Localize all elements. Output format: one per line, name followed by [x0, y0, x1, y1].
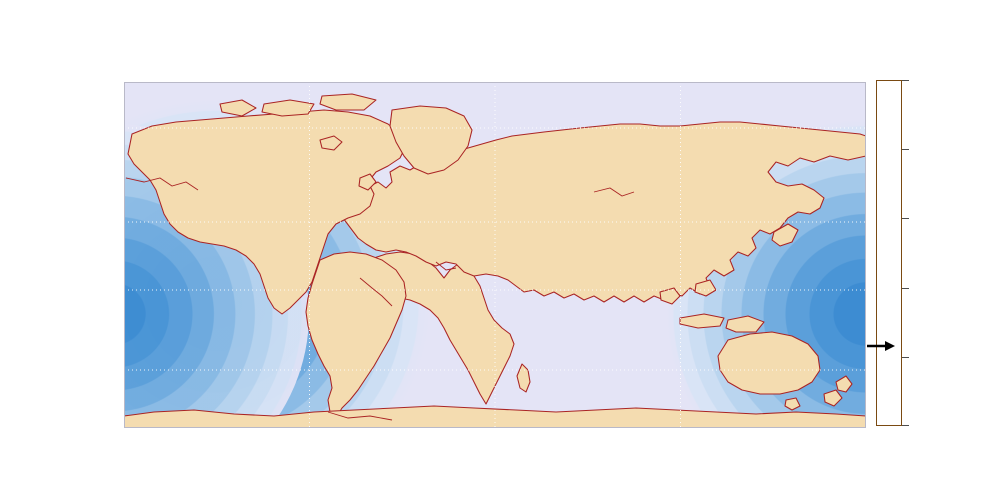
world-map-plot[interactable]: [124, 82, 866, 428]
colorbar-gradient: [876, 80, 902, 426]
max-marker: [866, 328, 908, 352]
max-arrow-icon: [867, 340, 897, 352]
figure-root: [0, 0, 1000, 500]
colorbar-axis-label: [903, 80, 943, 426]
map-svg: [124, 82, 866, 428]
colorbar[interactable]: [876, 80, 902, 426]
